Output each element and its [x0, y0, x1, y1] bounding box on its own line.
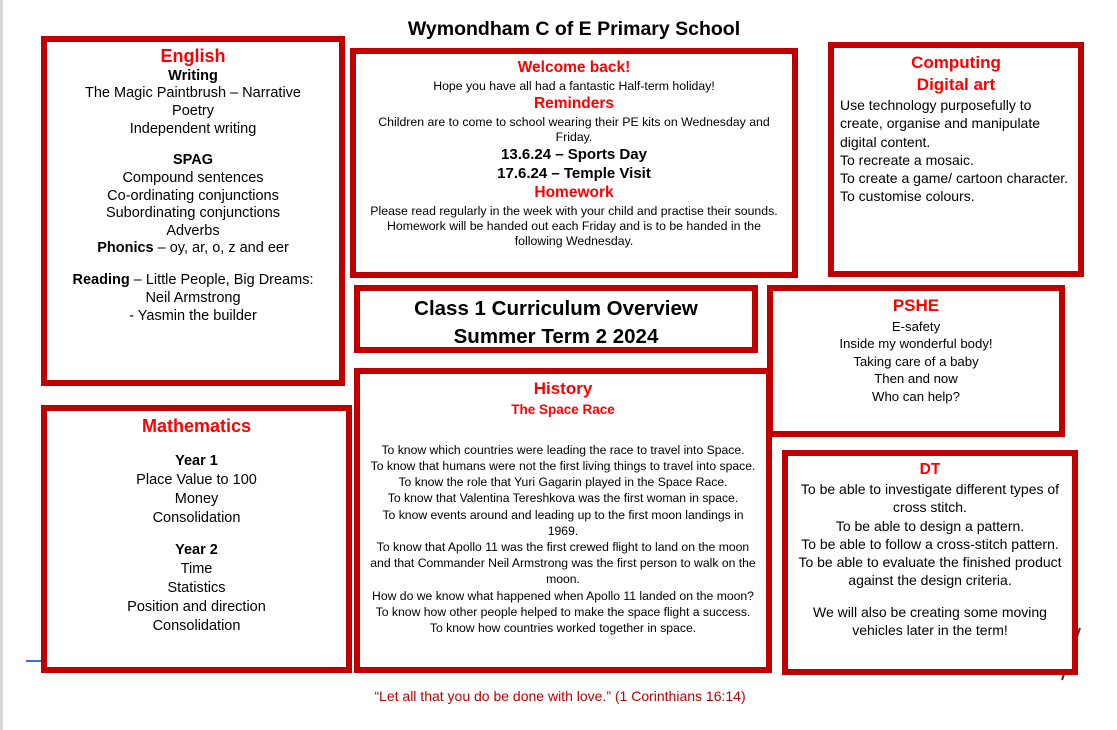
spacer [366, 430, 760, 442]
english-reading-item: Neil Armstrong [53, 290, 333, 307]
computing-title: Computing [840, 52, 1072, 74]
history-subtitle: The Space Race [366, 401, 760, 419]
subject-card-history: History The Space Race To know which cou… [354, 368, 772, 673]
subject-card-dt: DT To be able to investigate different t… [782, 450, 1078, 675]
history-item: How do we know what happened when Apollo… [366, 588, 760, 604]
mathematics-year2-item: Time [53, 560, 340, 579]
notices-card: Welcome back! Hope you have all had a fa… [350, 48, 798, 278]
subject-card-english: English Writing The Magic Paintbrush – N… [41, 36, 345, 386]
english-spag-heading: SPAG [53, 152, 333, 169]
class-header-line2: Summer Term 2 2024 [366, 323, 746, 351]
spacer [366, 419, 760, 431]
history-item: To know the role that Yuri Gagarin playe… [366, 474, 760, 490]
english-reading-item: - Yasmin the builder [53, 308, 333, 325]
page-left-edge [0, 0, 3, 730]
subject-card-computing: Computing Digital art Use technology pur… [828, 42, 1084, 277]
computing-item: Use technology purposefully to create, o… [840, 96, 1072, 151]
history-item: To know that Valentina Tereshkova was th… [366, 490, 760, 506]
welcome-text: Hope you have all had a fantastic Half-t… [362, 79, 786, 94]
history-item: To know that humans were not the first l… [366, 458, 760, 474]
english-writing-heading: Writing [53, 68, 333, 85]
history-title: History [366, 378, 760, 401]
spacer [53, 138, 333, 152]
pshe-item: E-safety [779, 318, 1053, 336]
mathematics-year2-heading: Year 2 [53, 541, 340, 560]
dt-item: To be able to follow a cross-stitch patt… [794, 535, 1066, 553]
mathematics-year1-item: Place Value to 100 [53, 471, 340, 490]
mathematics-year2-item: Consolidation [53, 617, 340, 636]
subject-card-pshe: PSHE E-safety Inside my wonderful body! … [767, 285, 1065, 437]
english-reading-text: – Little People, Big Dreams: [130, 272, 314, 288]
mathematics-year1-heading: Year 1 [53, 452, 340, 471]
english-writing-item: Poetry [53, 103, 333, 120]
english-phonics-label: Phonics [97, 240, 153, 256]
mathematics-year2-item: Statistics [53, 579, 340, 598]
english-spag-item: Co-ordinating conjunctions [53, 188, 333, 205]
spacer [53, 528, 340, 542]
mathematics-year2-item: Position and direction [53, 598, 340, 617]
welcome-heading: Welcome back! [362, 59, 786, 78]
pshe-item: Who can help? [779, 388, 1053, 406]
event-sports-day: 13.6.24 – Sports Day [362, 146, 786, 164]
history-item: To know which countries were leading the… [366, 442, 760, 458]
pshe-item: Then and now [779, 370, 1053, 388]
pshe-title: PSHE [779, 295, 1053, 318]
history-item: To know events around and leading up to … [366, 507, 760, 539]
english-spag-item: Adverbs [53, 223, 333, 240]
footer-quote: “Let all that you do be done with love.”… [240, 688, 880, 704]
dt-closing: We will also be creating some moving veh… [794, 603, 1066, 639]
page-title: Wymondham C of E Primary School [350, 18, 798, 41]
computing-item: To recreate a mosaic. [840, 151, 1072, 169]
spacer [794, 589, 1066, 602]
dt-item: To be able to evaluate the finished prod… [794, 553, 1066, 589]
dt-title: DT [794, 460, 1066, 480]
history-item: To know how other people helped to make … [366, 604, 760, 620]
reminders-heading: Reminders [362, 95, 786, 114]
reminders-text: Children are to come to school wearing t… [362, 115, 786, 145]
dt-item: To be able to investigate different type… [794, 480, 1066, 516]
homework-heading: Homework [362, 184, 786, 203]
english-phonics-line: Phonics – oy, ar, o, z and eer [53, 240, 333, 257]
mathematics-year1-item: Consolidation [53, 509, 340, 528]
event-temple-visit: 17.6.24 – Temple Visit [362, 165, 786, 183]
history-item: To know that Apollo 11 was the first cre… [366, 539, 760, 588]
english-spag-item: Subordinating conjunctions [53, 205, 333, 222]
english-writing-item: Independent writing [53, 121, 333, 138]
mathematics-year1-item: Money [53, 490, 340, 509]
class-overview-header: Class 1 Curriculum Overview Summer Term … [354, 285, 758, 353]
english-reading-line: Reading – Little People, Big Dreams: [53, 272, 333, 289]
english-writing-item: The Magic Paintbrush – Narrative [53, 85, 333, 102]
homework-text: Please read regularly in the week with y… [362, 204, 786, 249]
spacer [53, 258, 333, 272]
spacer [53, 438, 340, 452]
english-phonics-text: – oy, ar, o, z and eer [154, 240, 289, 256]
english-spag-item: Compound sentences [53, 170, 333, 187]
computing-item: To customise colours. [840, 187, 1072, 205]
mathematics-title: Mathematics [53, 415, 340, 438]
history-item: To know how countries worked together in… [366, 620, 760, 636]
pshe-item: Taking care of a baby [779, 353, 1053, 371]
english-reading-label: Reading [73, 272, 130, 288]
english-title: English [53, 46, 333, 67]
class-header-line1: Class 1 Curriculum Overview [366, 295, 746, 323]
subject-card-mathematics: Mathematics Year 1 Place Value to 100 Mo… [41, 405, 352, 673]
pshe-item: Inside my wonderful body! [779, 335, 1053, 353]
computing-subtitle: Digital art [840, 74, 1072, 96]
computing-item: To create a game/ cartoon character. [840, 169, 1072, 187]
dt-item: To be able to design a pattern. [794, 517, 1066, 535]
